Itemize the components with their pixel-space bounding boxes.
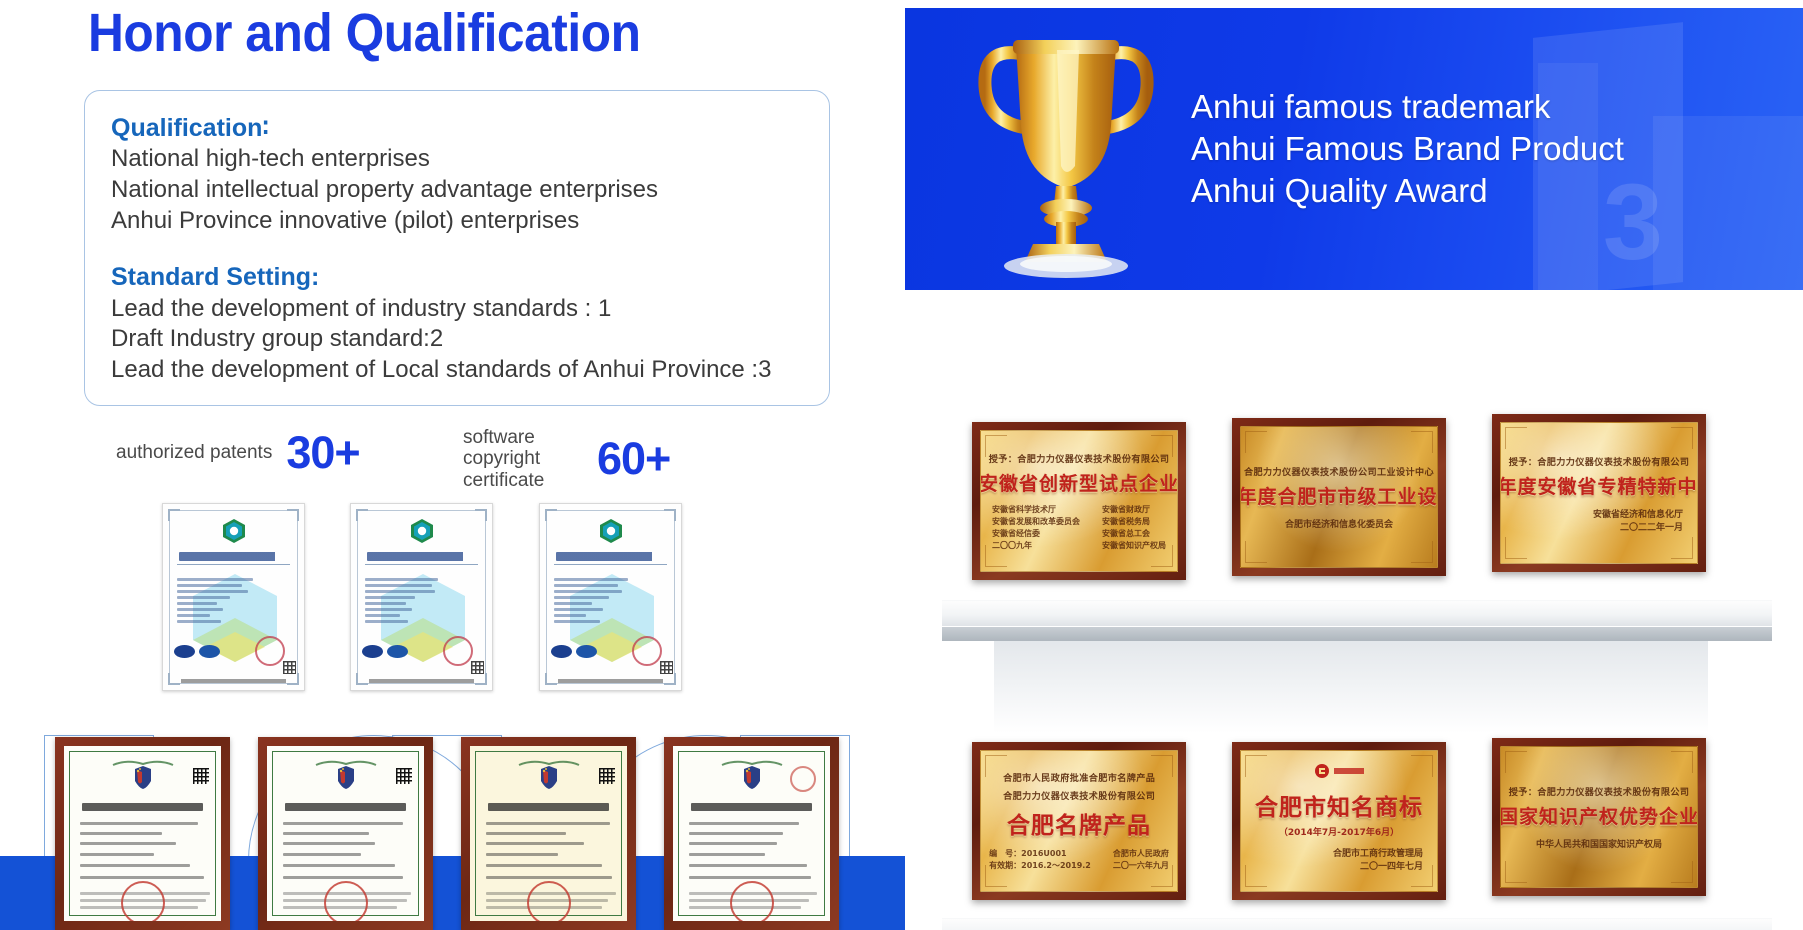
patent-certificate-4[interactable]: [664, 737, 839, 930]
leaf-ornament-icon: [314, 754, 378, 762]
national-emblem-icon: [129, 764, 157, 795]
certificate-text-line: [283, 876, 403, 879]
qualification-line-3: Anhui Province innovative (pilot) enterp…: [111, 206, 803, 237]
certificate-text-line: [689, 853, 765, 856]
certificate-paper: [470, 746, 627, 921]
plaque-face: 授予：合肥力力仪器仪表技术股份有限公司 安徽省创新型试点企业 安徽省科学技术厅 …: [980, 430, 1178, 572]
cert-divider: [554, 564, 667, 565]
plaque-title: 国家知识产权优势企业: [1500, 802, 1698, 829]
iso-certificate-2[interactable]: [350, 503, 493, 691]
standard-line-1: Lead the development of industry standar…: [111, 294, 803, 325]
certificate-text-line: [486, 822, 610, 825]
cert-divider: [365, 564, 478, 565]
certificate-text-line: [486, 832, 566, 835]
award-shelf-top: [942, 600, 1772, 626]
plaque-corner-ornament: [1505, 861, 1527, 883]
plaque-issuer-right: 合肥市人民政府 二〇一六年九月: [1113, 848, 1169, 872]
plaque-title: 合肥市知名商标: [1255, 788, 1423, 822]
cert-corner-ornament: [545, 509, 557, 521]
cert-corner-ornament: [475, 673, 487, 685]
qualification-heading: Qualification∶: [111, 113, 803, 144]
certificate-text-line: [283, 832, 369, 835]
national-emblem-icon: [332, 764, 360, 795]
accreditation-badge-icon: [551, 645, 572, 658]
stat-label: software copyright certificate: [463, 427, 583, 491]
stat-authorized-patents: authorized patents 30+: [116, 427, 360, 479]
certificate-text-line: [486, 876, 612, 879]
awards-banner: 3: [905, 8, 1803, 290]
plaque-corner-ornament: [1411, 541, 1433, 563]
qr-code-icon: [471, 661, 484, 674]
cert-footer-line: [558, 679, 663, 683]
plaque-corner-ornament: [1505, 427, 1527, 449]
award-plaque-hefei-industrial-design-center[interactable]: 合肥力力仪器仪表技术股份公司工业设计中心 2017年度合肥市市级工业设计中心 合…: [1232, 418, 1446, 576]
certificate-paper: [673, 746, 830, 921]
certificate-paper: [64, 746, 221, 921]
card-spacer: [111, 236, 803, 262]
plaque-subtitle-2: 合肥力力仪器仪表技术股份有限公司: [1003, 788, 1155, 801]
award-plaque-hefei-well-known-trademark[interactable]: 合肥市知名商标 （2014年7月-2017年6月） 合肥市工商行政管理局 二〇一…: [1232, 742, 1446, 900]
certificate-text-line: [689, 876, 811, 879]
cert-corner-ornament: [664, 509, 676, 521]
national-emblem-icon: [738, 764, 766, 795]
accreditation-badge-icon: [199, 645, 220, 658]
certificate-top-seal: [790, 766, 816, 792]
qr-code-icon: [283, 661, 296, 674]
cert-corner-ornament: [356, 509, 368, 521]
cert-corner-ornament: [664, 673, 676, 685]
patent-certificate-3[interactable]: [461, 737, 636, 930]
standard-line-2: Draft Industry group standard:2: [111, 324, 803, 355]
certificate-text-line: [486, 853, 558, 856]
certificate-text-line: [80, 832, 162, 835]
plaque-issuer-columns: 编 号：2016U001 有效期：2016.2～2019.2 合肥市人民政府 二…: [989, 848, 1169, 872]
certificate-text-line: [283, 822, 403, 825]
leaf-ornament-icon: [111, 754, 175, 762]
plaque-validity-note: （2014年7月-2017年6月）: [1279, 825, 1399, 838]
stats-row: authorized patents 30+ software copyrigh…: [116, 427, 756, 481]
cert-title-line: [556, 552, 665, 561]
plaque-face: 合肥市人民政府批准合肥市名牌产品 合肥力力仪器仪表技术股份有限公司 合肥名牌产品…: [980, 750, 1178, 892]
plaque-subtitle: 授予：合肥力力仪器仪表技术股份有限公司: [1509, 454, 1690, 467]
cert-corner-ornament: [475, 509, 487, 521]
plaque-face: 授予：合肥力力仪器仪表技术股份有限公司 国家知识产权优势企业 中华人民共和国国家…: [1500, 746, 1698, 888]
hexagon-logo-icon: [221, 518, 247, 549]
banner-text-block: Anhui famous trademark Anhui Famous Bran…: [1191, 86, 1624, 213]
certificate-text-line: [689, 832, 783, 835]
plaque-corner-ornament: [1505, 537, 1527, 559]
cert-footer-line: [181, 679, 286, 683]
stat-software-copyright: software copyright certificate 60+: [463, 427, 670, 491]
plaque-corner-ornament: [1245, 755, 1267, 777]
certificate-text-line: [689, 864, 807, 867]
cert-corner-ornament: [287, 673, 299, 685]
plaque-issuer-left: 安徽省科学技术厅 安徽省发展和改革委员会 安徽省经信委 二〇〇九年: [992, 504, 1080, 552]
plaque-corner-ornament: [1671, 751, 1693, 773]
national-emblem-icon: [535, 764, 563, 795]
plaque-corner-ornament: [1245, 541, 1267, 563]
hexagon-logo-icon: [598, 518, 624, 549]
iso-certificate-1[interactable]: [162, 503, 305, 691]
leaf-ornament-icon: [720, 754, 784, 762]
stat-value: 60+: [597, 433, 670, 485]
plaque-corner-ornament: [1411, 755, 1433, 777]
plaque-subtitle: 合肥市人民政府批准合肥市名牌产品: [1003, 770, 1155, 783]
cert-title-line: [367, 552, 476, 561]
qr-code-icon: [396, 768, 412, 784]
certificate-paper: [267, 746, 424, 921]
banner-line-2: Anhui Famous Brand Product: [1191, 128, 1624, 170]
certificate-text-line: [486, 842, 584, 845]
plaque-issuer-columns: 安徽省科学技术厅 安徽省发展和改革委员会 安徽省经信委 二〇〇九年 安徽省财政厅…: [992, 504, 1166, 552]
cert-corner-ornament: [287, 509, 299, 521]
cert-corner-ornament: [545, 673, 557, 685]
cert-body-text: [177, 578, 253, 626]
standard-line-3: Lead the development of Local standards …: [111, 355, 803, 386]
cert-footer-line: [369, 679, 474, 683]
plaque-issuer: 中华人民共和国国家知识产权局: [1536, 837, 1662, 850]
certificate-title-line: [488, 803, 609, 811]
patent-certificate-2[interactable]: [258, 737, 433, 930]
qualification-info-card: Qualification∶ National high-tech enterp…: [84, 90, 830, 406]
certificate-text-line: [283, 864, 395, 867]
plaque-corner-ornament: [1411, 431, 1433, 453]
honor-qualification-slide: Honor and Qualification Qualification∶ N…: [0, 0, 1803, 930]
red-seal-icon: [730, 881, 774, 921]
plaque-issuer-left: 编 号：2016U001 有效期：2016.2～2019.2: [989, 848, 1091, 872]
plaque-issuer: 安徽省经济和信息化厅 二〇二二年一月: [1593, 507, 1683, 533]
plaque-title: 2017年度合肥市市级工业设计中心: [1240, 482, 1438, 509]
plaque-face: 合肥力力仪器仪表技术股份公司工业设计中心 2017年度合肥市市级工业设计中心 合…: [1240, 426, 1438, 568]
leaf-ornament-icon: [517, 754, 581, 762]
certificate-text-line: [689, 842, 777, 845]
plaque-title: 2022年度安徽省专精特新中小企业: [1500, 472, 1698, 499]
banner-line-3: Anhui Quality Award: [1191, 170, 1624, 212]
plaque-corner-ornament: [1505, 751, 1527, 773]
certificate-text-line: [80, 876, 204, 879]
plaque-subtitle: 授予：合肥力力仪器仪表技术股份有限公司: [1509, 784, 1690, 797]
plaque-title: 安徽省创新型试点企业: [980, 469, 1178, 496]
certificate-text-line: [80, 853, 154, 856]
plaque-face: 合肥市知名商标 （2014年7月-2017年6月） 合肥市工商行政管理局 二〇一…: [1240, 750, 1438, 892]
patent-certificate-1[interactable]: [55, 737, 230, 930]
stat-value: 30+: [286, 427, 359, 479]
certificate-text-line: [80, 822, 198, 825]
trophy-icon: [961, 16, 1171, 281]
standard-setting-heading: Standard Setting:: [111, 262, 803, 293]
plaque-face: 授予：合肥力力仪器仪表技术股份有限公司 2022年度安徽省专精特新中小企业 安徽…: [1500, 422, 1698, 564]
certificate-text-line: [689, 822, 799, 825]
red-seal-icon: [443, 636, 473, 666]
plaque-corner-ornament: [1671, 537, 1693, 559]
banner-line-1: Anhui famous trademark: [1191, 86, 1624, 128]
shelf-edge: [942, 627, 1772, 641]
cert-body-text: [554, 578, 630, 626]
iso-certificate-3[interactable]: [539, 503, 682, 691]
certificate-text-line: [80, 842, 176, 845]
certificate-text-line: [283, 842, 375, 845]
banner-building-shape: [1653, 116, 1803, 290]
certificate-text-line: [486, 864, 602, 867]
red-seal-icon: [324, 881, 368, 921]
plaque-subtitle: 授予：合肥力力仪器仪表技术股份有限公司: [989, 451, 1170, 464]
qualification-line-1: National high-tech enterprises: [111, 144, 803, 175]
certificate-title-line: [82, 803, 203, 811]
qualification-line-2: National intellectual property advantage…: [111, 175, 803, 206]
accreditation-badge-icon: [387, 645, 408, 658]
award-plaque-anhui-innovative-pilot[interactable]: 授予：合肥力力仪器仪表技术股份有限公司 安徽省创新型试点企业 安徽省科学技术厅 …: [972, 422, 1186, 580]
certificate-text-line: [283, 853, 361, 856]
plaque-issuer: 合肥市经济和信息化委员会: [1285, 517, 1393, 530]
certificate-title-line: [691, 803, 812, 811]
accreditation-badge-icon: [362, 645, 383, 658]
qr-code-icon: [193, 768, 209, 784]
hexagon-logo-icon: [409, 518, 435, 549]
cert-title-line: [179, 552, 288, 561]
cert-corner-ornament: [356, 673, 368, 685]
iso-certificates-row: [162, 503, 682, 693]
red-seal-icon: [121, 881, 165, 921]
plaque-issuer-right: 安徽省财政厅 安徽省税务局 安徽省总工会 安徽省知识产权局: [1102, 504, 1166, 552]
shelf-shadow: [994, 641, 1708, 733]
qr-code-icon: [599, 768, 615, 784]
award-plaque-hefei-famous-brand-product[interactable]: 合肥市人民政府批准合肥市名牌产品 合肥力力仪器仪表技术股份有限公司 合肥名牌产品…: [972, 742, 1186, 900]
accreditation-badge-icon: [174, 645, 195, 658]
certificate-title-line: [285, 803, 406, 811]
plaque-corner-ornament: [1671, 427, 1693, 449]
certificate-text-line: [80, 864, 190, 867]
award-plaque-specialized-sme-2022[interactable]: 授予：合肥力力仪器仪表技术股份有限公司 2022年度安徽省专精特新中小企业 安徽…: [1492, 414, 1706, 572]
red-seal-icon: [255, 636, 285, 666]
plaque-subtitle: 合肥力力仪器仪表技术股份公司工业设计中心: [1244, 464, 1434, 477]
qr-code-icon: [660, 661, 673, 674]
cert-corner-ornament: [168, 673, 180, 685]
stat-label: authorized patents: [116, 442, 272, 463]
accreditation-badge-icon: [576, 645, 597, 658]
plaque-title: 合肥名牌产品: [1007, 806, 1151, 840]
award-shelf-bottom: [942, 918, 1772, 930]
plaque-corner-ornament: [1245, 431, 1267, 453]
page-title: Honor and Qualification: [88, 2, 640, 64]
cert-corner-ornament: [168, 509, 180, 521]
plaque-corner-ornament: [1245, 865, 1267, 887]
cert-body-text: [365, 578, 441, 626]
red-seal-icon: [527, 881, 571, 921]
patent-certificates-row: [55, 737, 845, 930]
plaque-corner-ornament: [1671, 861, 1693, 883]
company-logo-icon: [1314, 763, 1364, 779]
plaque-issuer: 合肥市工商行政管理局 二〇一四年七月: [1333, 846, 1423, 872]
award-plaque-national-ip-advantage-enterprise[interactable]: 授予：合肥力力仪器仪表技术股份有限公司 国家知识产权优势企业 中华人民共和国国家…: [1492, 738, 1706, 896]
red-seal-icon: [632, 636, 662, 666]
cert-divider: [177, 564, 290, 565]
